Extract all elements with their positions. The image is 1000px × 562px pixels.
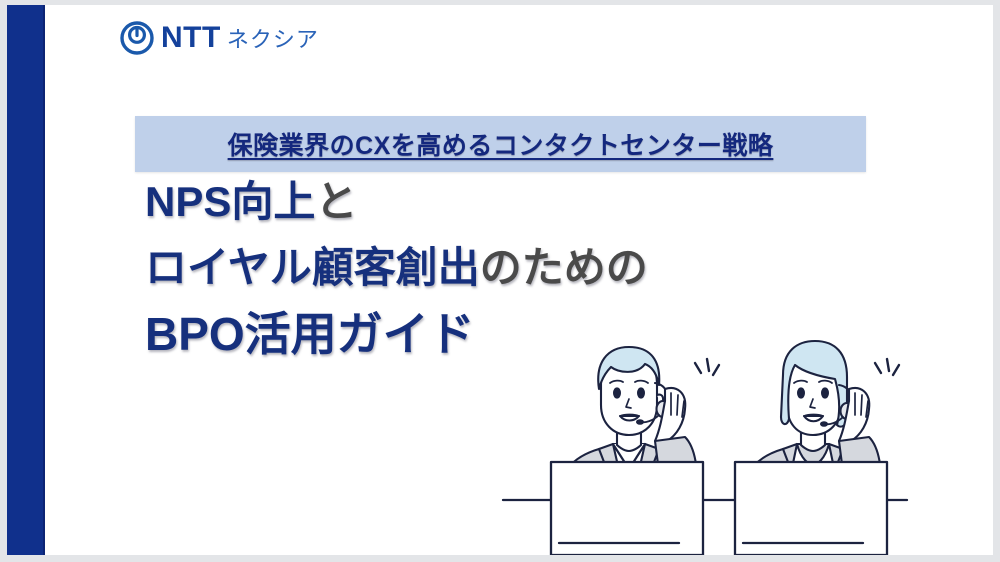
page-title-line-2-emphasis: ロイヤル顧客創出	[145, 244, 480, 291]
female-operator-figure	[735, 341, 899, 555]
subtitle-banner: 保険業界のCXを高めるコンタクトセンター戦略	[135, 116, 866, 172]
page-title-line-3-wrapper: BPO活用ガイド	[145, 311, 475, 357]
slide-canvas: NTT ネクシア 保険業界のCXを高めるコンタクトセンター戦略 NPS向上と ロ…	[7, 5, 993, 555]
page-title-line-3-emphasis: BPO活用ガイド	[145, 308, 475, 360]
brand-logo-primary: NTT	[161, 23, 221, 53]
left-accent-bar	[7, 5, 43, 555]
brand-logo: NTT ネクシア	[119, 17, 319, 59]
page-title-line-1-emphasis: NPS向上	[145, 178, 315, 225]
left-accent-bar-edge	[43, 5, 45, 555]
page-title-line-2-plain: のための	[480, 244, 648, 291]
brand-logo-secondary: ネクシア	[227, 29, 319, 51]
call-center-operators-illustration	[495, 323, 915, 555]
male-operator-figure	[551, 347, 719, 555]
page-title-line-2: ロイヤル顧客創出のための	[145, 247, 885, 289]
page-title-line-1-plain: と	[315, 178, 357, 225]
ntt-circle-logo-mark-icon	[119, 20, 155, 56]
brand-logo-text: NTT ネクシア	[161, 23, 319, 53]
subtitle-banner-text: 保険業界のCXを高めるコンタクトセンター戦略	[228, 126, 774, 162]
slide-frame: NTT ネクシア 保険業界のCXを高めるコンタクトセンター戦略 NPS向上と ロ…	[0, 0, 1000, 562]
page-title-line-1: NPS向上と	[145, 181, 885, 223]
